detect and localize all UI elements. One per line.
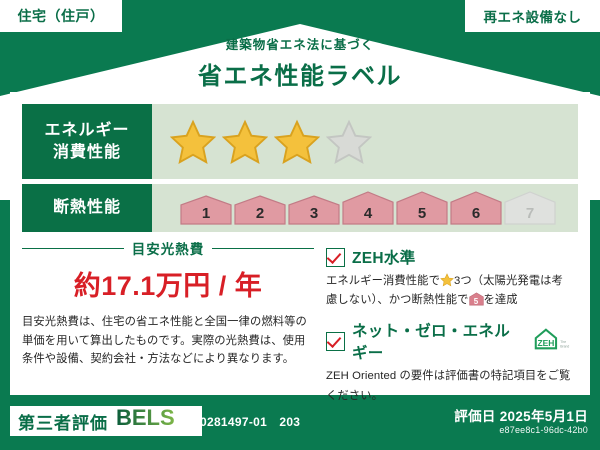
svg-text:Brand: Brand — [560, 344, 569, 348]
insulation-level-number: 4 — [342, 205, 394, 222]
evaluation-hash: e87ee8c1-96dc-42b0 — [499, 425, 588, 435]
row-insulation-label-text: 断熱性能 — [53, 197, 121, 219]
bels-badge: 第三者評価 BELS — [10, 406, 202, 436]
energy-performance-label: 住宅（住戸） 再エネ設備なし 建築物省エネ法に基づく 省エネ性能ラベル エネルギ… — [0, 0, 600, 450]
tag-building-type: 住宅（住戸） — [0, 0, 122, 32]
zeh-standard-text-after: を達成 — [484, 294, 518, 306]
star-icon-filled — [222, 119, 268, 165]
insulation-level-5: 5 — [396, 191, 448, 225]
star-icon-filled — [274, 119, 320, 165]
row-energy-performance: エネルギー 消費性能 — [22, 104, 578, 179]
star-icon — [440, 273, 454, 287]
insulation-scale: 1234567 — [180, 191, 556, 225]
house-level-icon: 5 — [469, 292, 484, 306]
utility-cost-heading: 目安光熱費 — [22, 238, 314, 258]
tag-renewable-equipment: 再エネ設備なし — [465, 0, 600, 32]
heading-rule-right — [212, 248, 314, 249]
page-title: 省エネ性能ラベル — [0, 56, 600, 91]
tag-renewable-equipment-label: 再エネ設備なし — [484, 6, 582, 26]
row-energy-label-line2: 消費性能 — [53, 142, 121, 164]
svg-text:ZEH: ZEH — [537, 338, 554, 348]
insulation-level-3: 3 — [288, 195, 340, 225]
zeh-netzero-title: ネット・ゼロ・エネルギー — [352, 319, 521, 363]
svg-text:BELS: BELS — [116, 406, 175, 430]
insulation-level-number: 3 — [288, 205, 340, 222]
star-rating — [170, 119, 372, 165]
bels-logo: BELS — [116, 406, 194, 436]
zeh-netzero-title-row: ネット・ゼロ・エネルギー ZEH The Brand — [326, 319, 574, 363]
check-icon — [326, 248, 345, 267]
star-icon-empty — [326, 119, 372, 165]
row-energy-label-line1: エネルギー — [44, 120, 129, 142]
bels-jp-label: 第三者評価 — [18, 409, 108, 434]
row-insulation-performance: 断熱性能 1234567 — [22, 184, 578, 232]
insulation-level-4: 4 — [342, 191, 394, 225]
row-energy-label: エネルギー 消費性能 — [22, 104, 152, 179]
row-insulation-body: 1234567 — [152, 184, 578, 232]
insulation-level-6: 6 — [450, 191, 502, 225]
tag-building-type-label: 住宅（住戸） — [18, 6, 105, 26]
zeh-standard-title-row: ZEH水準 — [326, 246, 574, 268]
evaluation-date: 評価日 2025年5月1日 — [454, 405, 588, 425]
insulation-level-number: 1 — [180, 205, 232, 222]
zeh-blocks: ZEH水準 エネルギー消費性能で 3つ（太陽光発電は考慮しない）、かつ断熱性能で… — [326, 246, 574, 415]
utility-cost-heading-label: 目安光熱費 — [132, 238, 205, 258]
footer: 第三者評価 BELS 0281497-01 203 評価日 2025年5月1日 … — [0, 396, 600, 450]
header-subtitle: 建築物省エネ法に基づく — [0, 34, 600, 53]
insulation-level-2: 2 — [234, 195, 286, 225]
utility-cost-value: 約17.1万円 / 年 — [22, 264, 314, 303]
utility-cost-block: 目安光熱費 約17.1万円 / 年 目安光熱費は、住宅の省エネ性能と全国一律の燃… — [22, 238, 314, 369]
zeh-block-net-zero: ネット・ゼロ・エネルギー ZEH The Brand ZEH Oriented … — [326, 319, 574, 405]
zeh-logo-icon: ZEH The Brand — [529, 326, 573, 357]
insulation-level-number: 7 — [504, 205, 556, 222]
star-icon-filled — [170, 119, 216, 165]
zeh-block-standard: ZEH水準 エネルギー消費性能で 3つ（太陽光発電は考慮しない）、かつ断熱性能で… — [326, 246, 574, 310]
house-level-number: 5 — [469, 298, 484, 306]
insulation-level-number: 5 — [396, 205, 448, 222]
insulation-level-number: 6 — [450, 205, 502, 222]
row-energy-body — [152, 104, 578, 179]
heading-rule-left — [22, 248, 124, 249]
bels-number: 0281497-01 203 — [200, 413, 300, 430]
zeh-standard-text-before: エネルギー消費性能で — [326, 275, 440, 287]
insulation-level-1: 1 — [180, 195, 232, 225]
utility-cost-note: 目安光熱費は、住宅の省エネ性能と全国一律の燃料等の単価を用いて算出したものです。… — [22, 313, 314, 369]
row-insulation-label: 断熱性能 — [22, 184, 152, 232]
check-icon — [326, 332, 345, 351]
header: 建築物省エネ法に基づく 省エネ性能ラベル — [0, 34, 600, 91]
zeh-standard-body: エネルギー消費性能で 3つ（太陽光発電は考慮しない）、かつ断熱性能で 5 を達成 — [326, 272, 574, 310]
insulation-level-7: 7 — [504, 191, 556, 225]
performance-rows: エネルギー 消費性能 断熱性能 1234567 — [22, 104, 578, 237]
insulation-level-number: 2 — [234, 205, 286, 222]
zeh-standard-title: ZEH水準 — [352, 246, 416, 268]
